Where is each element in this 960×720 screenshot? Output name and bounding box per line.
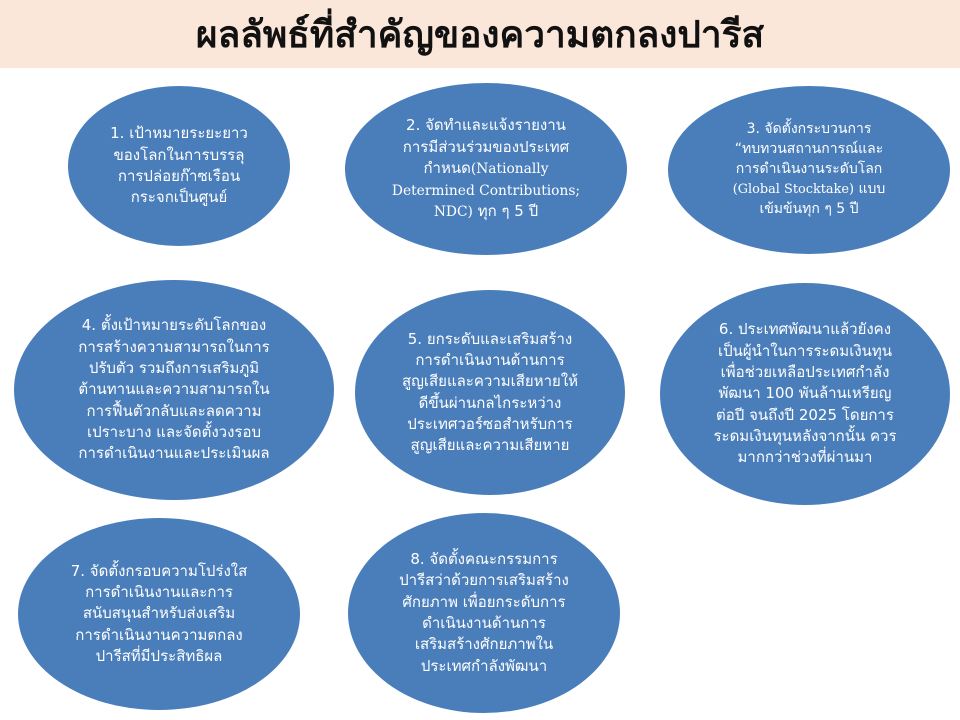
page-title: ผลลัพธ์ที่สำคัญของความตกลงปารีส — [0, 0, 960, 68]
ellipse-node-3[interactable]: 3. จัดตั้งกระบวนการ “ทบทวนสถานการณ์และ ก… — [668, 86, 950, 254]
ellipse-node-5-text: 5. ยกระดับและเสริมสร้าง การดำเนินงานด้าน… — [392, 329, 588, 457]
ellipse-node-7[interactable]: 7. จัดตั้งกรอบความโปร่งใส การดำเนินงานแล… — [18, 518, 300, 710]
ellipse-diagram: 1. เป้าหมายระยะยาว ของโลกในการบรรลุ การป… — [0, 68, 960, 720]
ellipse-node-6-text: 6. ประเทศพัฒนาแล้วยังคง เป็นผู้นำในการระ… — [703, 319, 906, 468]
ellipse-node-7-text: 7. จัดตั้งกรอบความโปร่งใส การดำเนินงานแล… — [61, 561, 258, 667]
ellipse-node-1[interactable]: 1. เป้าหมายระยะยาว ของโลกในการบรรลุ การป… — [68, 86, 290, 246]
ellipse-node-4[interactable]: 4. ตั้งเป้าหมายระดับโลกของ การสร้างความส… — [14, 280, 334, 500]
ellipse-node-2[interactable]: 2. จัดทำและแจ้งรายงาน การมีส่วนร่วมของปร… — [345, 83, 627, 255]
ellipse-node-6[interactable]: 6. ประเทศพัฒนาแล้วยังคง เป็นผู้นำในการระ… — [660, 283, 950, 505]
ellipse-node-8-text: 8. จัดตั้งคณะกรรมการ ปารีสว่าด้วยการเสริ… — [389, 549, 579, 677]
ellipse-node-3-text: 3. จัดตั้งกระบวนการ “ทบทวนสถานการณ์และ ก… — [723, 120, 896, 219]
ellipse-node-8[interactable]: 8. จัดตั้งคณะกรรมการ ปารีสว่าด้วยการเสริ… — [348, 513, 620, 713]
ellipse-node-4-text: 4. ตั้งเป้าหมายระดับโลกของ การสร้างความส… — [68, 315, 279, 464]
latin-term: (Global Stocktake) — [733, 182, 854, 197]
latin-term: (Nationally Determined Contributions; ND… — [392, 161, 580, 220]
ellipse-node-5[interactable]: 5. ยกระดับและเสริมสร้าง การดำเนินงานด้าน… — [355, 290, 625, 495]
ellipse-node-2-text: 2. จัดทำและแจ้งรายงาน การมีส่วนร่วมของปร… — [382, 115, 590, 222]
ellipse-node-1-text: 1. เป้าหมายระยะยาว ของโลกในการบรรลุ การป… — [100, 123, 258, 208]
